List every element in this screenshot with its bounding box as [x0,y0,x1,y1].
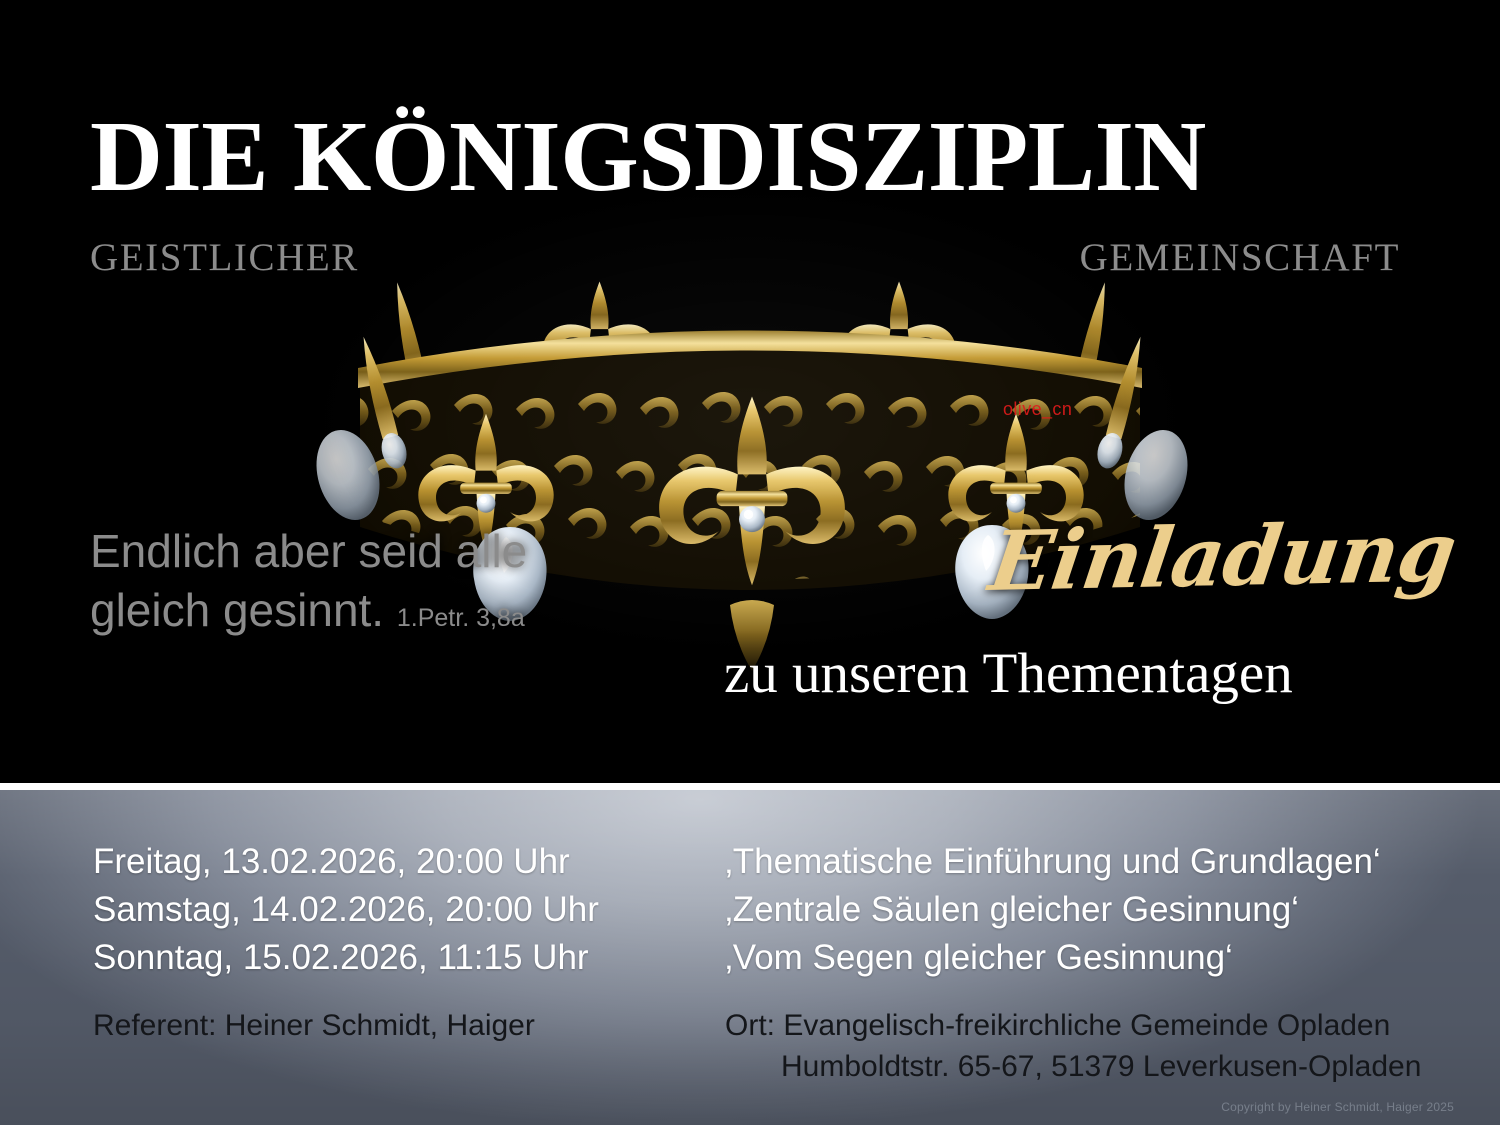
venue-line-1: Ort: Evangelisch-freikirchliche Gemeinde… [725,1005,1421,1046]
dates-list: Freitag, 13.02.2026, 20:00 Uhr Samstag, … [93,838,599,982]
section-divider [0,783,1500,790]
list-item: Samstag, 14.02.2026, 20:00 Uhr [93,886,599,934]
subtitle-right: GEMEINSCHAFT [1080,238,1400,277]
venue-info: Ort: Evangelisch-freikirchliche Gemeinde… [725,1005,1421,1087]
hero-photo-area: olive_cn DIE KÖNIGSDISZIPLIN GEISTLICHER… [0,0,1500,783]
list-item: ‚Vom Segen gleicher Gesinnung‘ [725,934,1381,982]
invitation-script-heading: Einladung [985,511,1460,603]
subtitle-left: GEISTLICHER [90,238,359,277]
verse-reference: 1.Petr. 3,8a [397,604,525,632]
venue-line-2: Humboldtstr. 65-67, 51379 Leverkusen-Opl… [725,1046,1421,1087]
invitation-subheading: zu unseren Thementagen [724,645,1293,702]
subtitle-row: GEISTLICHER GEMEINSCHAFT [90,238,1400,277]
event-poster: olive_cn DIE KÖNIGSDISZIPLIN GEISTLICHER… [0,0,1500,1125]
speaker-info: Referent: Heiner Schmidt, Haiger [93,1005,535,1046]
list-item: ‚Thematische Einführung und Grundlagen‘ [725,838,1381,886]
copyright-notice: Copyright by Heiner Schmidt, Haiger 2025 [1221,1101,1454,1113]
speaker-line: Referent: Heiner Schmidt, Haiger [93,1005,535,1046]
photo-watermark: olive_cn [1003,400,1072,418]
bible-verse: Endlich aber seid alle gleich gesinnt. 1… [90,522,560,640]
topics-list: ‚Thematische Einführung und Grundlagen‘ … [725,838,1381,982]
page-title: DIE KÖNIGSDISZIPLIN [90,106,1420,207]
list-item: Sonntag, 15.02.2026, 11:15 Uhr [93,934,599,982]
list-item: Freitag, 13.02.2026, 20:00 Uhr [93,838,599,886]
list-item: ‚Zentrale Säulen gleicher Gesinnung‘ [725,886,1381,934]
